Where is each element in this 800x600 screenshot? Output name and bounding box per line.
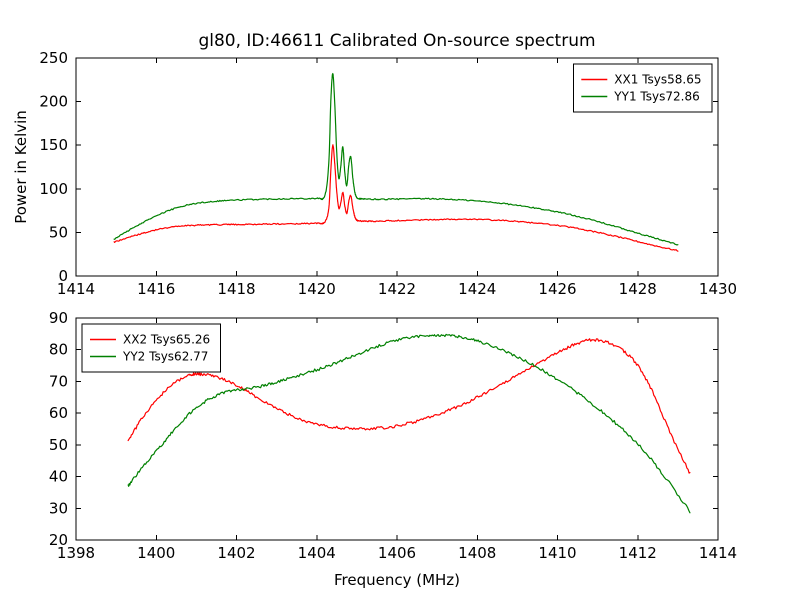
x-tick-label: 1418 [217, 280, 255, 298]
x-tick-label: 1424 [458, 280, 496, 298]
y-tick-label: 100 [39, 180, 68, 198]
panel-bottom: 1398140014021404140614081410141214142030… [49, 309, 737, 589]
y-tick-label: 150 [39, 136, 68, 154]
figure-canvas: 1414141614181420142214241426142814300501… [0, 0, 800, 600]
x-tick-label: 1412 [619, 544, 657, 562]
x-tick-label: 1400 [137, 544, 175, 562]
y-tick-label: 90 [49, 309, 68, 327]
y-tick-label: 200 [39, 93, 68, 111]
y-tick-label: 0 [58, 267, 68, 285]
y-tick-label: 60 [49, 404, 68, 422]
x-tick-label: 1430 [699, 280, 737, 298]
x-axis-label: Frequency (MHz) [334, 571, 460, 589]
x-tick-label: 1428 [619, 280, 657, 298]
x-tick-label: 1410 [538, 544, 576, 562]
x-tick-label: 1426 [538, 280, 576, 298]
x-tick-label: 1422 [378, 280, 416, 298]
y-tick-label: 250 [39, 49, 68, 67]
x-tick-label: 1420 [298, 280, 336, 298]
legend-box-bottom [82, 324, 221, 372]
x-tick-label: 1416 [137, 280, 175, 298]
x-tick-label: 1408 [458, 544, 496, 562]
spectrum-trace-xx1 [114, 145, 678, 251]
spectrum-figure: 1414141614181420142214241426142814300501… [0, 0, 800, 600]
y-tick-label: 50 [49, 436, 68, 454]
y-tick-label: 40 [49, 468, 68, 486]
y-tick-label: 50 [49, 223, 68, 241]
legend-label: YY1 Tsys72.86 [613, 90, 699, 104]
legend-label: XX2 Tsys65.26 [123, 333, 210, 347]
x-tick-label: 1414 [699, 544, 737, 562]
legend-label: YY2 Tsys62.77 [122, 350, 208, 364]
legend-label: XX1 Tsys58.65 [614, 73, 701, 87]
x-tick-label: 1402 [217, 544, 255, 562]
y-tick-label: 70 [49, 372, 68, 390]
plot-title: gl80, ID:46611 Calibrated On-source spec… [198, 31, 595, 51]
y-tick-label: 30 [49, 499, 68, 517]
y-tick-label: 20 [49, 531, 68, 549]
x-tick-label: 1404 [298, 544, 336, 562]
y-tick-label: 80 [49, 341, 68, 359]
y-axis-label: Power in Kelvin [12, 110, 30, 224]
x-tick-label: 1406 [378, 544, 416, 562]
legend-box-top [573, 64, 712, 112]
panel-top: 1414141614181420142214241426142814300501… [12, 31, 737, 298]
